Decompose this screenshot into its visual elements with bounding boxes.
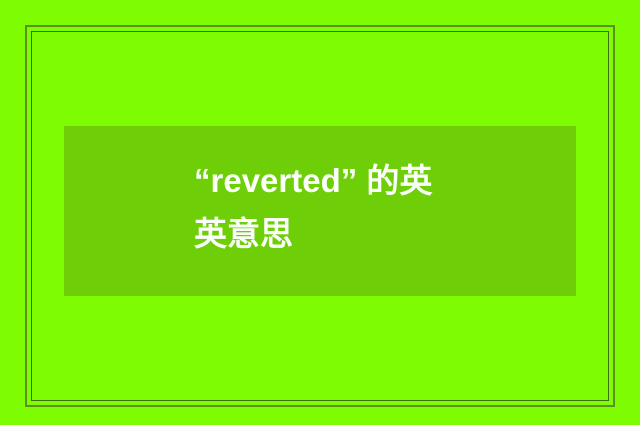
poster-canvas: “reverted” 的英英意思 xyxy=(0,0,640,425)
card-title: “reverted” 的英英意思 xyxy=(194,154,439,260)
title-card: “reverted” 的英英意思 xyxy=(64,126,576,296)
